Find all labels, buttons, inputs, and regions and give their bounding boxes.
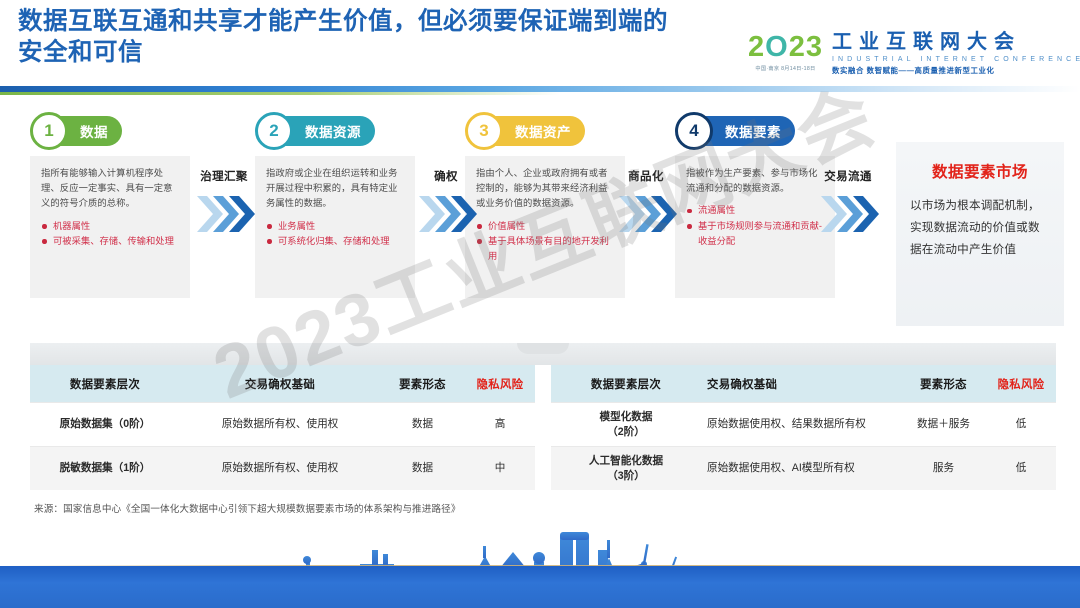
table-left-col-3: 隐私风险 bbox=[465, 376, 535, 392]
chevron-arrows-icon bbox=[188, 192, 260, 236]
table-right-body: 模型化数据（2阶）原始数据使用权、结果数据所有权数据＋服务低人工智能化数据（3阶… bbox=[551, 402, 1056, 490]
table-cell: 原始数据使用权、结果数据所有权 bbox=[701, 417, 901, 432]
flow-connector-label-4: 交易流通 bbox=[812, 168, 884, 184]
flow-step-card-3: 指由个人、企业或政府拥有或者控制的，能够为其带来经济利益或业务价值的数据资源。价… bbox=[465, 156, 625, 298]
flow-step-2: 数据资源2指政府或企业在组织运转和业务开展过程中积累的，具有特定业务属性的数据。… bbox=[255, 112, 415, 298]
table-cell: 低 bbox=[986, 461, 1056, 476]
table-row: 模型化数据（2阶）原始数据使用权、结果数据所有权数据＋服务低 bbox=[551, 402, 1056, 446]
logo-year: 2O23 bbox=[748, 32, 823, 62]
flow-connector-1: 治理汇聚 bbox=[188, 168, 260, 236]
title-line-1: 数据互联互通和共享才能产生价值，但必须要保证端到端的 bbox=[18, 6, 748, 37]
source-note: 来源：国家信息中心《全国一体化大数据中心引领下超大规模数据要素市场的体系架构与推… bbox=[34, 501, 461, 515]
table-cell: 原始数据集（0阶） bbox=[30, 417, 180, 432]
flow-step-desc-2: 指政府或企业在组织运转和业务开展过程中积累的，具有特定业务属性的数据。 bbox=[266, 166, 405, 212]
chevron-arrows-icon bbox=[410, 192, 482, 236]
slide: 数据互联互通和共享才能产生价值，但必须要保证端到端的 安全和可信 2O23 中国… bbox=[0, 0, 1080, 608]
flow-step-4: 数据要素4指被作为生产要素、参与市场化流通和分配的数据资源。流通属性基于市场规则… bbox=[675, 112, 835, 298]
table-cell: 中 bbox=[465, 461, 535, 476]
table-cell: 人工智能化数据（3阶） bbox=[551, 454, 701, 484]
footer-artwork bbox=[0, 528, 1080, 608]
slide-header: 数据互联互通和共享才能产生价值，但必须要保证端到端的 安全和可信 2O23 中国… bbox=[0, 0, 1080, 98]
flow-step-desc-1: 指所有能够输入计算机程序处理、反应一定事实、具有一定意义的符号介质的总称。 bbox=[41, 166, 180, 212]
table-cell: 数据＋服务 bbox=[901, 417, 986, 432]
page-title: 数据互联互通和共享才能产生价值，但必须要保证端到端的 安全和可信 bbox=[18, 6, 748, 68]
conference-logo: 2O23 中国·南京 8月14日-18日 工业互联网大会 INDUSTRIAL … bbox=[748, 30, 1070, 90]
table-row: 脱敏数据集（1阶）原始数据所有权、使用权数据中 bbox=[30, 446, 535, 490]
table-cell: 原始数据所有权、使用权 bbox=[180, 417, 380, 432]
flow-step-head-2: 数据资源2 bbox=[255, 112, 415, 150]
flow-step-bullets-4: 流通属性基于市场规则参与流通和贡献-收益分配 bbox=[686, 203, 825, 249]
table-cell: 高 bbox=[465, 417, 535, 432]
header-rule-green bbox=[0, 92, 560, 95]
table-row: 原始数据集（0阶）原始数据所有权、使用权数据高 bbox=[30, 402, 535, 446]
table-row: 人工智能化数据（3阶）原始数据使用权、AI模型所有权服务低 bbox=[551, 446, 1056, 490]
flow-step-card-1: 指所有能够输入计算机程序处理、反应一定事实、具有一定意义的符号介质的总称。机器属… bbox=[30, 156, 190, 298]
flow-step-desc-4: 指被作为生产要素、参与市场化流通和分配的数据资源。 bbox=[686, 166, 825, 196]
table-cell: 数据 bbox=[380, 417, 465, 432]
tables-area: 数据要素层次交易确权基础要素形态隐私风险 原始数据集（0阶）原始数据所有权、使用… bbox=[30, 365, 1056, 490]
table-cell: 原始数据使用权、AI模型所有权 bbox=[701, 461, 901, 476]
header-rule bbox=[0, 86, 1080, 96]
table-left-body: 原始数据集（0阶）原始数据所有权、使用权数据高脱敏数据集（1阶）原始数据所有权、… bbox=[30, 402, 535, 490]
flow-step-label-3: 数据资产 bbox=[515, 121, 571, 141]
table-cell: 原始数据所有权、使用权 bbox=[180, 461, 380, 476]
flow-connector-3: 商品化 bbox=[610, 168, 682, 236]
flow-step-bullet: 机器属性 bbox=[41, 219, 180, 234]
table-right-col-2: 要素形态 bbox=[901, 376, 986, 392]
flow-step-bullet: 基于市场规则参与流通和贡献-收益分配 bbox=[686, 219, 825, 249]
flow-step-label-2: 数据资源 bbox=[305, 121, 361, 141]
logo-date: 中国·南京 8月14日-18日 bbox=[748, 65, 823, 72]
flow-step-head-1: 数据1 bbox=[30, 112, 190, 150]
table-cell: 服务 bbox=[901, 461, 986, 476]
flow-step-bullets-1: 机器属性可被采集、存储、传输和处理 bbox=[41, 219, 180, 249]
flow-step-1: 数据1指所有能够输入计算机程序处理、反应一定事实、具有一定意义的符号介质的总称。… bbox=[30, 112, 190, 298]
flow-step-bullet: 价值属性 bbox=[476, 219, 615, 234]
flow-step-number-3: 3 bbox=[465, 112, 503, 150]
table-right-col-0: 数据要素层次 bbox=[551, 376, 701, 392]
table-right: 数据要素层次交易确权基础要素形态隐私风险 模型化数据（2阶）原始数据使用权、结果… bbox=[551, 365, 1056, 490]
flow-step-card-4: 指被作为生产要素、参与市场化流通和分配的数据资源。流通属性基于市场规则参与流通和… bbox=[675, 156, 835, 298]
table-right-col-1: 交易确权基础 bbox=[701, 376, 901, 392]
logo-name-cn: 工业互联网大会 bbox=[832, 31, 1080, 54]
flow-step-number-2: 2 bbox=[255, 112, 293, 150]
table-band bbox=[30, 343, 1056, 365]
flow-step-bullet: 可被采集、存储、传输和处理 bbox=[41, 234, 180, 249]
table-left: 数据要素层次交易确权基础要素形态隐私风险 原始数据集（0阶）原始数据所有权、使用… bbox=[30, 365, 535, 490]
flow-step-bullet: 可系统化归集、存储和处理 bbox=[266, 234, 405, 249]
market-panel: 数据要素市场 以市场为根本调配机制，实现数据流动的价值或数据在流动中产生价值 bbox=[896, 142, 1064, 326]
flow-step-label-1: 数据 bbox=[80, 121, 108, 141]
logo-name-en: INDUSTRIAL INTERNET CONFERENCE bbox=[832, 54, 1080, 65]
table-cell: 数据 bbox=[380, 461, 465, 476]
flow-connector-4: 交易流通 bbox=[812, 168, 884, 236]
flow-step-number-4: 4 bbox=[675, 112, 713, 150]
logo-tagline: 数实融合 数智赋能——高质量推进新型工业化 bbox=[832, 65, 1080, 76]
table-left-col-1: 交易确权基础 bbox=[180, 376, 380, 392]
flow-step-3: 数据资产3指由个人、企业或政府拥有或者控制的，能够为其带来经济利益或业务价值的数… bbox=[465, 112, 625, 298]
flow-step-bullets-2: 业务属性可系统化归集、存储和处理 bbox=[266, 219, 405, 249]
flow-step-head-4: 数据要素4 bbox=[675, 112, 835, 150]
flow-step-bullet: 业务属性 bbox=[266, 219, 405, 234]
market-body: 以市场为根本调配机制，实现数据流动的价值或数据在流动中产生价值 bbox=[910, 195, 1050, 261]
flow-step-card-2: 指政府或企业在组织运转和业务开展过程中积累的，具有特定业务属性的数据。业务属性可… bbox=[255, 156, 415, 298]
chevron-arrows-icon bbox=[610, 192, 682, 236]
flow-step-head-3: 数据资产3 bbox=[465, 112, 625, 150]
market-title: 数据要素市场 bbox=[910, 160, 1050, 182]
flow-step-bullets-3: 价值属性基于具体场景有目的地开发利用 bbox=[476, 219, 615, 265]
flow-step-bullet: 基于具体场景有目的地开发利用 bbox=[476, 234, 615, 264]
table-cell: 模型化数据（2阶） bbox=[551, 410, 701, 440]
flow-connector-2: 确权 bbox=[410, 168, 482, 236]
table-right-col-3: 隐私风险 bbox=[986, 376, 1056, 392]
flow-step-number-1: 1 bbox=[30, 112, 68, 150]
table-cell: 脱敏数据集（1阶） bbox=[30, 461, 180, 476]
table-cell: 低 bbox=[986, 417, 1056, 432]
flow-step-bullet: 流通属性 bbox=[686, 203, 825, 218]
logo-year-block: 2O23 中国·南京 8月14日-18日 bbox=[748, 30, 823, 72]
table-right-header: 数据要素层次交易确权基础要素形态隐私风险 bbox=[551, 365, 1056, 402]
flow-diagram: 数据1指所有能够输入计算机程序处理、反应一定事实、具有一定意义的符号介质的总称。… bbox=[0, 112, 1080, 334]
table-left-col-0: 数据要素层次 bbox=[30, 376, 180, 392]
flow-step-label-4: 数据要素 bbox=[725, 121, 781, 141]
flow-connector-label-2: 确权 bbox=[410, 168, 482, 184]
chevron-arrows-icon bbox=[812, 192, 884, 236]
flow-connector-label-1: 治理汇聚 bbox=[188, 168, 260, 184]
table-left-header: 数据要素层次交易确权基础要素形态隐私风险 bbox=[30, 365, 535, 402]
title-line-2: 安全和可信 bbox=[18, 37, 748, 68]
logo-name-block: 工业互联网大会 INDUSTRIAL INTERNET CONFERENCE 数… bbox=[832, 30, 1080, 76]
flow-connector-label-3: 商品化 bbox=[610, 168, 682, 184]
flow-step-desc-3: 指由个人、企业或政府拥有或者控制的，能够为其带来经济利益或业务价值的数据资源。 bbox=[476, 166, 615, 212]
sea-band bbox=[0, 566, 1080, 608]
table-left-col-2: 要素形态 bbox=[380, 376, 465, 392]
